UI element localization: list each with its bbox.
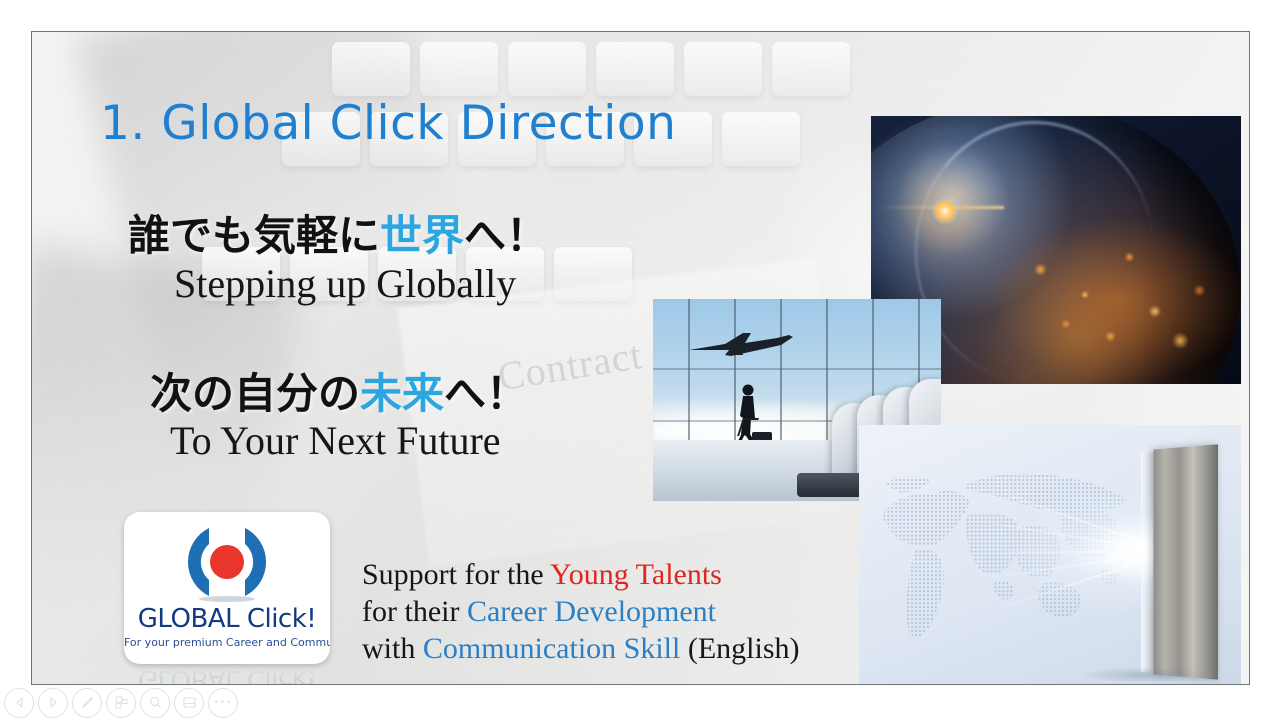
tagline-2a: for their xyxy=(362,595,467,628)
headline-1-prefix: 誰でも気軽に xyxy=(128,211,380,260)
tagline-3a: with xyxy=(362,632,423,665)
slide-title: 1. Global Click Direction xyxy=(100,96,676,151)
triangle-right-icon xyxy=(47,696,60,709)
slide-viewer: Contract 1. Global Click Direction 誰でも気軽… xyxy=(0,0,1280,720)
logo-word-click: Click! xyxy=(239,604,316,634)
headline-1-suffix: へ！ xyxy=(464,211,548,260)
slide-grid-button[interactable] xyxy=(106,688,136,718)
tagline-young-talents: Young Talents xyxy=(550,558,722,591)
global-click-logo: GLOBAL Click! For your premium Career an… xyxy=(124,512,330,664)
headline-japanese-2: 次の自分の未来へ！ xyxy=(150,360,528,421)
presentation-button[interactable] xyxy=(174,688,204,718)
annotate-button[interactable] xyxy=(72,688,102,718)
more-options-button[interactable]: ••• xyxy=(208,688,238,718)
airplane-silhouette-icon xyxy=(685,331,797,357)
headline-english-2: To Your Next Future xyxy=(170,417,501,464)
tagline-line-1: Support for the Young Talents xyxy=(362,556,800,593)
door-shadow xyxy=(1080,667,1210,683)
presentation-toolbar: ••• xyxy=(0,685,1280,720)
wooden-door-panel xyxy=(1154,444,1219,680)
tagline-3c: (English) xyxy=(680,632,799,665)
ellipsis-icon: ••• xyxy=(214,698,233,708)
screen-icon xyxy=(182,695,197,710)
headline-2-prefix: 次の自分の xyxy=(150,369,360,418)
headline-1-highlight: 世界 xyxy=(380,211,464,260)
open-door-world-map-photo xyxy=(859,425,1241,685)
grid-icon xyxy=(114,695,129,710)
tagline-1a: Support for the xyxy=(362,558,550,591)
zoom-button[interactable] xyxy=(140,688,170,718)
tagline-communication-skill: Communication Skill xyxy=(423,632,681,665)
headline-english-1: Stepping up Globally xyxy=(174,260,516,307)
logo-wordmark: GLOBAL Click! xyxy=(124,604,330,634)
headline-2-suffix: へ！ xyxy=(444,369,528,418)
slide-canvas: Contract 1. Global Click Direction 誰でも気軽… xyxy=(31,31,1250,685)
logo-mark-icon xyxy=(175,520,279,604)
tagline-line-3: with Communication Skill (English) xyxy=(362,630,800,667)
next-slide-button[interactable] xyxy=(38,688,68,718)
tagline-career-development: Career Development xyxy=(467,595,716,628)
headline-japanese-1: 誰でも気軽に世界へ！ xyxy=(128,202,548,263)
logo-word-global: GLOBAL xyxy=(138,604,239,634)
logo-subtitle: For your premium Career and Communicatio… xyxy=(124,636,330,649)
previous-slide-button[interactable] xyxy=(4,688,34,718)
magnifier-icon xyxy=(148,695,163,710)
tagline-block: Support for the Young Talents for their … xyxy=(362,556,800,667)
triangle-left-icon xyxy=(13,696,26,709)
tagline-line-2: for their Career Development xyxy=(362,593,800,630)
headline-2-highlight: 未来 xyxy=(360,369,444,418)
earth-atmosphere-limb xyxy=(915,121,1154,381)
pen-icon xyxy=(80,695,95,710)
